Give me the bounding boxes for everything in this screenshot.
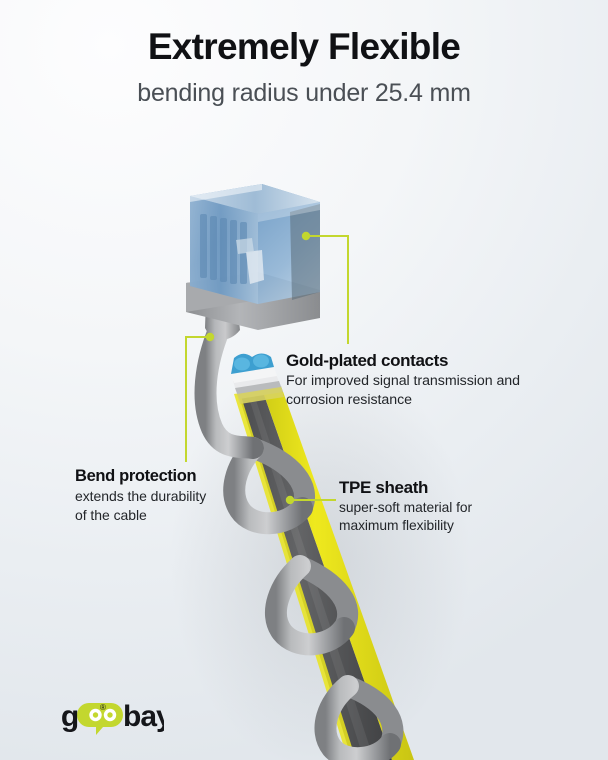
callout-line: corrosion resistance: [286, 391, 520, 410]
logo-letters-bay: bay: [123, 700, 164, 733]
callout-tpe-sheath: TPE sheath super-soft material for maxim…: [339, 477, 472, 535]
callout-line: For improved signal transmission and: [286, 372, 520, 391]
leader-bend-protection: [186, 337, 210, 462]
callout-line: extends the durability: [75, 487, 206, 506]
callout-bend-protection: Bend protection extends the durability o…: [75, 465, 206, 524]
infographic-canvas: Extremely Flexible bending radius under …: [0, 0, 608, 760]
page-subtitle: bending radius under 25.4 mm: [0, 76, 608, 110]
callout-title: Gold-plated contacts: [286, 350, 520, 372]
logo-letter-g: g: [61, 700, 79, 733]
callout-title: Bend protection: [75, 465, 206, 487]
registered-trademark-icon: ®: [100, 703, 106, 712]
leader-dot-tpe-sheath: [286, 496, 294, 504]
leader-gold-plated: [306, 236, 348, 344]
callout-line: of the cable: [75, 506, 206, 525]
leader-dot-gold-plated: [302, 232, 310, 240]
callout-line: maximum flexibility: [339, 517, 472, 535]
callout-line: super-soft material for: [339, 499, 472, 517]
callout-gold-plated-contacts: Gold-plated contacts For improved signal…: [286, 350, 520, 409]
leader-dot-bend-protection: [206, 333, 214, 341]
callout-title: TPE sheath: [339, 477, 472, 499]
page-title: Extremely Flexible: [0, 24, 608, 70]
